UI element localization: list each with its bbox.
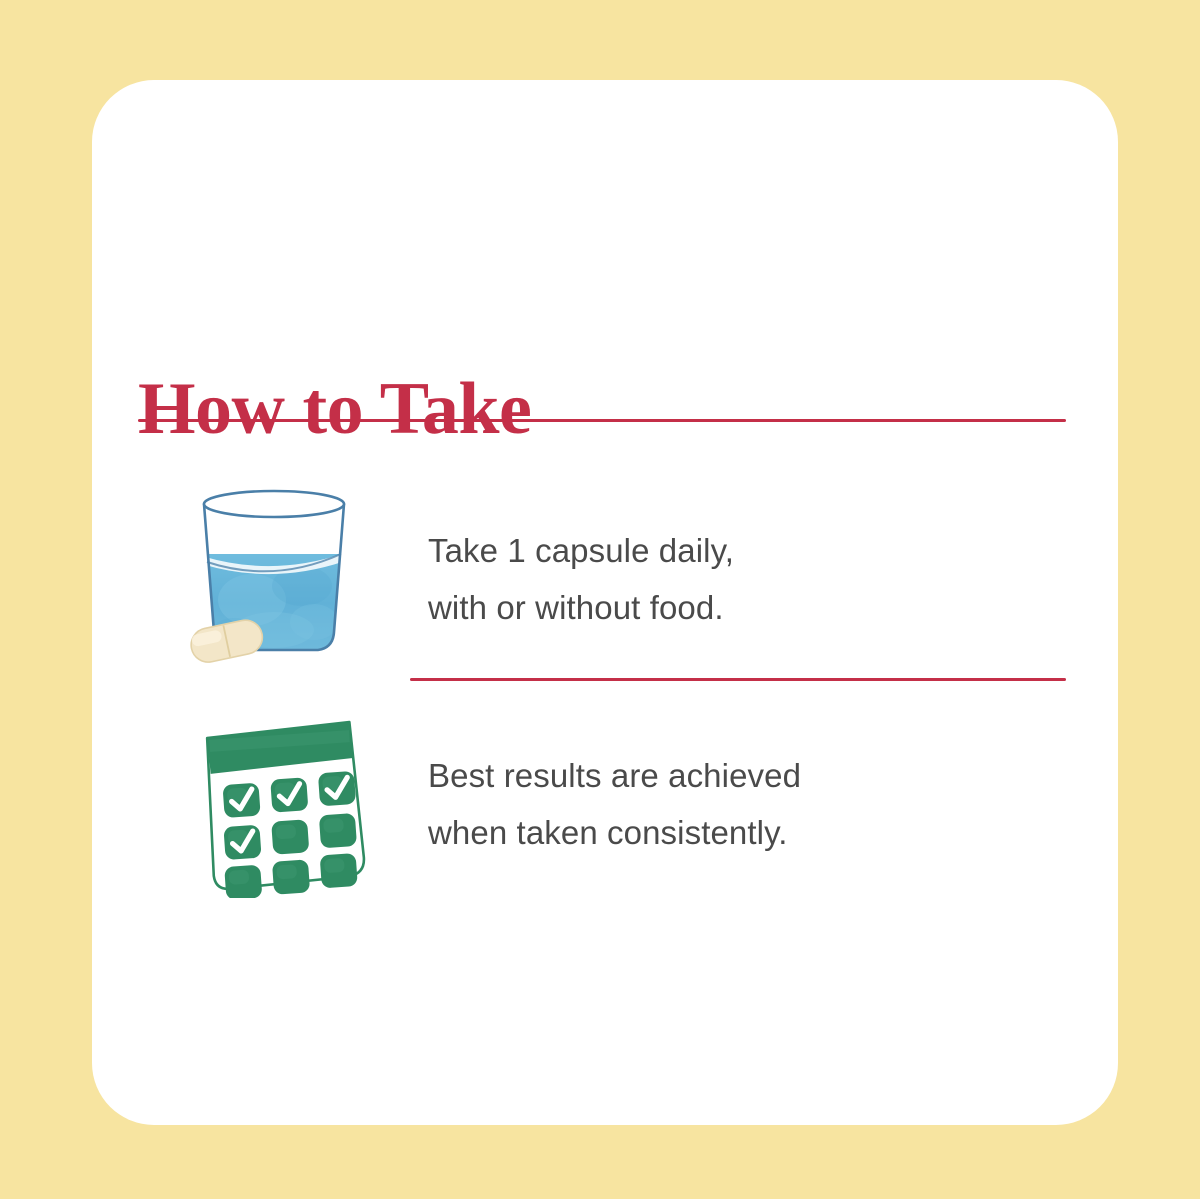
poster-canvas: How to Take xyxy=(0,0,1200,1199)
instruction-2-illustration xyxy=(138,705,428,905)
row-divider xyxy=(410,678,1066,681)
instruction-2-text: Best results are achieved when taken con… xyxy=(428,748,801,862)
title-divider xyxy=(138,419,1066,422)
instruction-1-line-1: Take 1 capsule daily, xyxy=(428,523,734,580)
glass-of-water-with-capsule-icon xyxy=(174,482,374,672)
content-card: How to Take xyxy=(92,80,1118,1125)
instruction-1-line-2: with or without food. xyxy=(428,580,734,637)
instruction-1-illustration xyxy=(138,480,428,680)
calendar-with-checkmarks-icon xyxy=(190,713,375,898)
page-title: How to Take xyxy=(138,372,531,446)
instruction-2-line-2: when taken consistently. xyxy=(428,805,801,862)
instruction-1-text: Take 1 capsule daily, with or without fo… xyxy=(428,523,734,637)
instruction-row-1: Take 1 capsule daily, with or without fo… xyxy=(138,480,1066,680)
instruction-row-2: Best results are achieved when taken con… xyxy=(138,705,1066,905)
instruction-2-line-1: Best results are achieved xyxy=(428,748,801,805)
